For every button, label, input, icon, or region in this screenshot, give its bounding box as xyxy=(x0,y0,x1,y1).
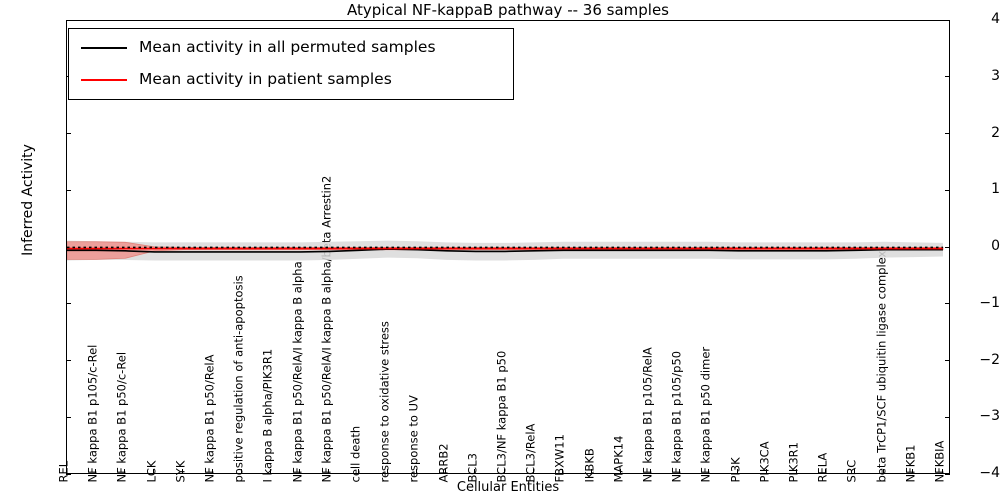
y-axis-label: Inferred Activity xyxy=(20,110,36,290)
y-tick-label: 3 xyxy=(944,68,1000,84)
legend-swatch-permuted xyxy=(81,47,127,49)
y-tick-label: −2 xyxy=(944,352,1000,368)
chart-title: Atypical NF-kappaB pathway -- 36 samples xyxy=(66,1,950,19)
legend-item-patient: Mean activity in patient samples xyxy=(69,65,513,95)
y-tick-label: 2 xyxy=(944,125,1000,141)
chart-root: Atypical NF-kappaB pathway -- 36 samples… xyxy=(0,0,1000,500)
y-tick-label: −4 xyxy=(944,465,1000,481)
legend-swatch-patient xyxy=(81,79,127,81)
y-tick-label: −1 xyxy=(944,295,1000,311)
legend-label-permuted: Mean activity in all permuted samples xyxy=(139,38,436,56)
legend-item-permuted: Mean activity in all permuted samples xyxy=(69,33,513,63)
y-tick-label: 4 xyxy=(944,11,1000,27)
y-tick-label: 1 xyxy=(944,181,1000,197)
chart-legend: Mean activity in all permuted samples Me… xyxy=(68,28,514,100)
legend-label-patient: Mean activity in patient samples xyxy=(139,70,392,88)
y-tick-label: 0 xyxy=(944,238,1000,254)
y-tick-label: −3 xyxy=(944,408,1000,424)
